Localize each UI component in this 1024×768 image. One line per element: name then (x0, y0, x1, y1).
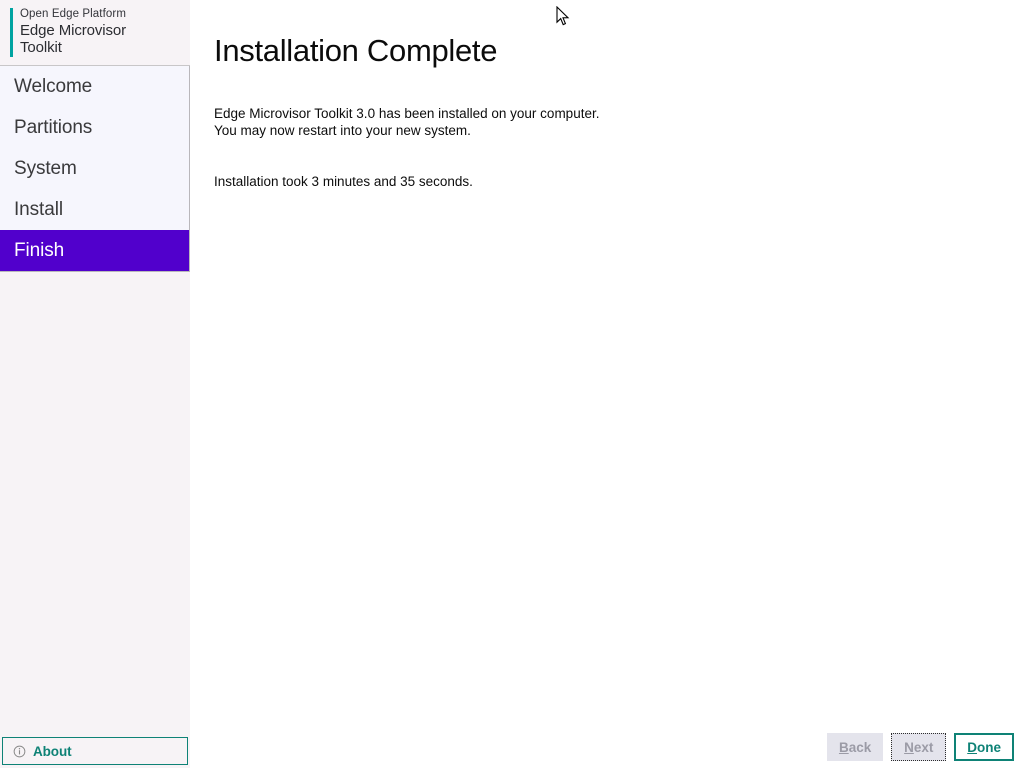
description-block: Edge Microvisor Toolkit 3.0 has been ins… (214, 105, 1024, 139)
done-button[interactable]: Done (954, 733, 1014, 761)
sidebar: Open Edge Platform Edge Microvisor Toolk… (0, 0, 190, 768)
brand-accent-bar (10, 8, 13, 57)
sidebar-item-label: System (14, 158, 77, 180)
about-button-container: About (0, 737, 190, 768)
done-button-label: one (977, 740, 1001, 755)
done-button-mnemonic: D (967, 740, 977, 755)
brand-text: Open Edge Platform Edge Microvisor Toolk… (20, 6, 126, 56)
sidebar-spacer (0, 272, 190, 737)
brand-name-line2: Toolkit (20, 39, 126, 56)
about-button[interactable]: About (2, 737, 188, 765)
sidebar-item-finish[interactable]: Finish (0, 230, 189, 271)
installer-window: Open Edge Platform Edge Microvisor Toolk… (0, 0, 1024, 768)
sidebar-item-system[interactable]: System (0, 148, 189, 189)
sidebar-item-partitions[interactable]: Partitions (0, 107, 189, 148)
description-line-2: You may now restart into your new system… (214, 122, 1024, 139)
back-button-label: ack (849, 740, 872, 755)
next-button-mnemonic: N (904, 740, 914, 755)
brand-header: Open Edge Platform Edge Microvisor Toolk… (0, 0, 190, 66)
sidebar-item-label: Finish (14, 240, 64, 262)
sidebar-nav: Welcome Partitions System Install Finish (0, 66, 190, 272)
back-button-mnemonic: B (839, 740, 849, 755)
sidebar-item-label: Install (14, 199, 63, 221)
main-content: Installation Complete Edge Microvisor To… (190, 0, 1024, 768)
sidebar-item-welcome[interactable]: Welcome (0, 66, 189, 107)
page-title: Installation Complete (214, 0, 1024, 72)
brand-name-line1: Edge Microvisor (20, 22, 126, 39)
info-circle-icon (13, 745, 26, 758)
sidebar-item-install[interactable]: Install (0, 189, 189, 230)
about-label: About (33, 744, 71, 759)
sidebar-item-label: Partitions (14, 117, 92, 139)
description-line-1: Edge Microvisor Toolkit 3.0 has been ins… (214, 105, 1024, 122)
sidebar-item-label: Welcome (14, 76, 92, 98)
brand-superline: Open Edge Platform (20, 7, 126, 21)
wizard-button-bar: Back Next Done (819, 733, 1014, 761)
install-duration-text: Installation took 3 minutes and 35 secon… (214, 173, 1024, 190)
next-button[interactable]: Next (891, 733, 946, 761)
back-button[interactable]: Back (827, 733, 883, 761)
next-button-label: ext (914, 740, 934, 755)
